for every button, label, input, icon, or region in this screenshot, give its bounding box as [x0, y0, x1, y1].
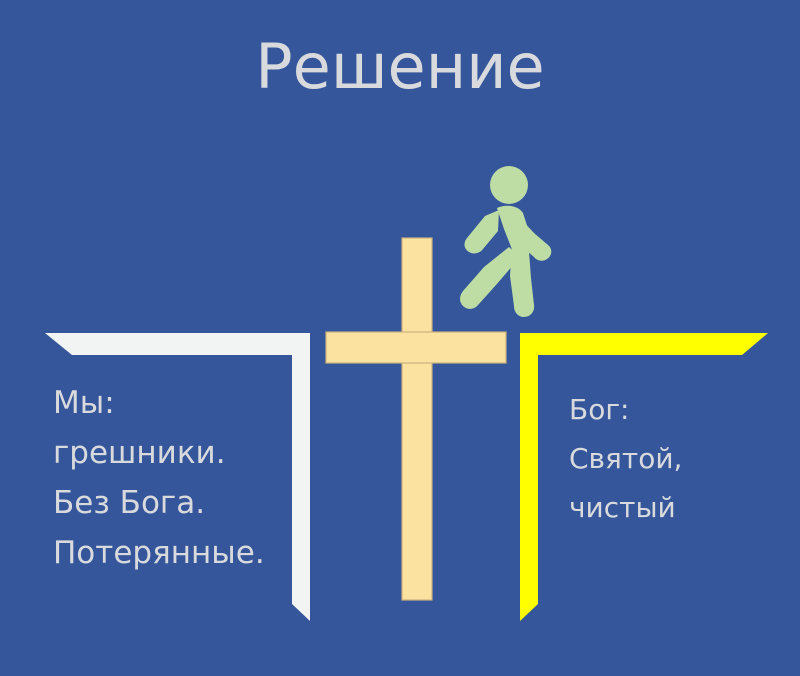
figure-head	[490, 166, 528, 204]
left-text-block: Мы: грешники. Без Бога. Потерянные.	[53, 378, 265, 578]
figure-back-arm	[465, 210, 499, 253]
left-text-line-3: Без Бога.	[53, 478, 265, 528]
right-text-block: Бог: Святой, чистый	[569, 385, 682, 532]
left-text-line-1: Мы:	[53, 378, 265, 428]
right-text-line-2: Святой,	[569, 434, 682, 483]
right-text-line-1: Бог:	[569, 385, 682, 434]
left-text-line-2: грешники.	[53, 428, 265, 478]
left-text-line-4: Потерянные.	[53, 528, 265, 578]
slide-canvas: Решение Мы: грешники. Без Бога. Потерянн…	[0, 0, 800, 676]
right-text-line-3: чистый	[569, 483, 682, 532]
